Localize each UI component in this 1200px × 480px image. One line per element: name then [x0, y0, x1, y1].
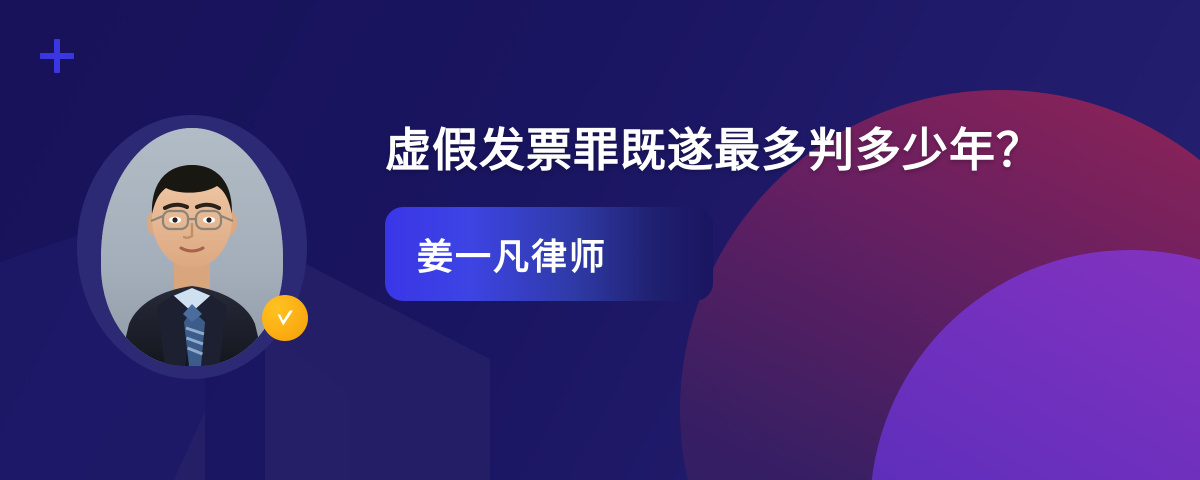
lawyer-name-badge[interactable]: 姜一凡律师 [385, 207, 713, 301]
lawyer-question-banner: 虚假发票罪既遂最多判多少年？ 姜一凡律师 [0, 0, 1200, 480]
avatar [60, 97, 325, 397]
banner-content: 虚假发票罪既遂最多判多少年？ 姜一凡律师 [385, 118, 1145, 301]
lawyer-name-label: 姜一凡律师 [417, 228, 607, 280]
plus-icon [40, 39, 74, 73]
verified-check-icon [262, 295, 308, 341]
page-title: 虚假发票罪既遂最多判多少年？ [385, 118, 1085, 183]
